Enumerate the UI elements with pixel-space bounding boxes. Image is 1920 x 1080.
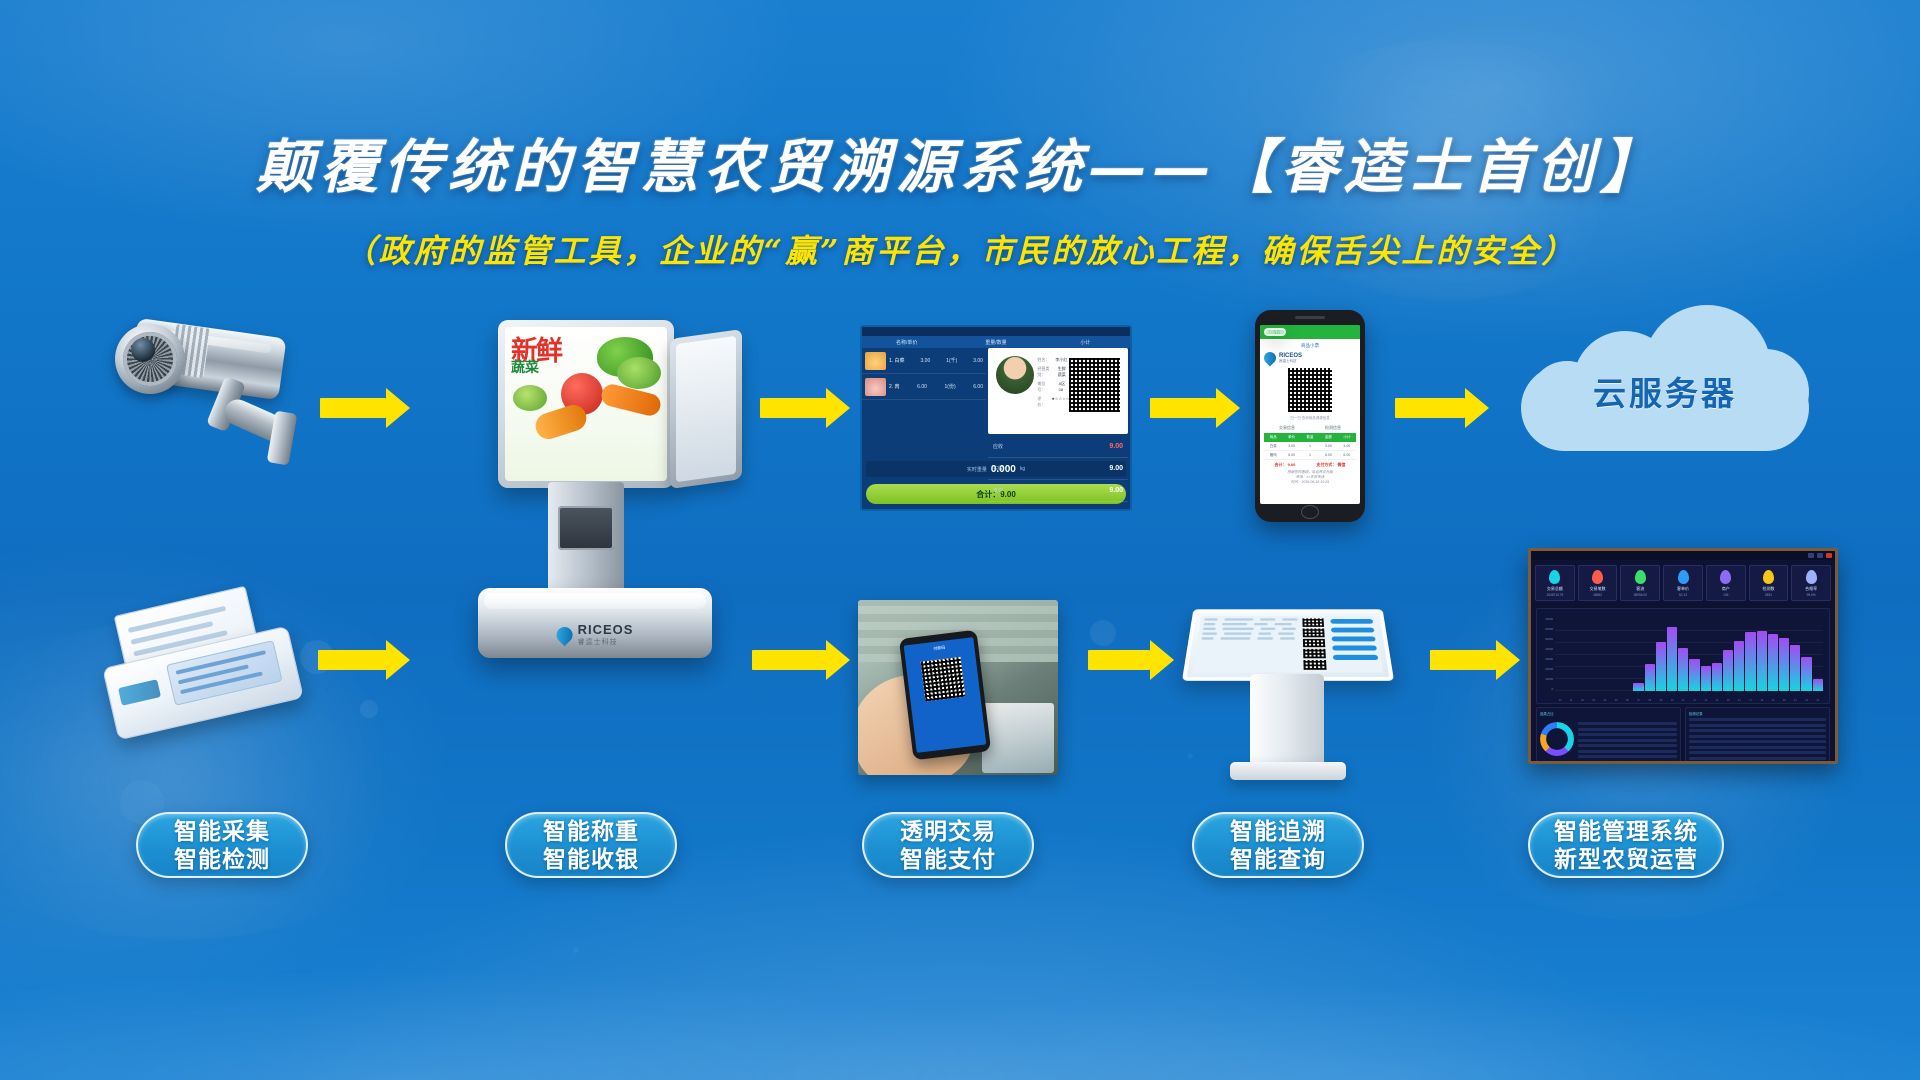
cloud-server-label: 云服务器 <box>1515 367 1815 415</box>
pos-operator-display <box>670 329 742 489</box>
pill-line-1: 透明交易 <box>900 817 996 845</box>
page-title: 颠覆传统的智慧农贸溯源系统——【睿逵士首创】 <box>0 120 1920 204</box>
kiosk-qr-column <box>1301 616 1331 672</box>
device-query-kiosk <box>1188 600 1398 785</box>
weight-label: 实时重量 <box>967 466 987 473</box>
item-unit-price: 3.00 <box>921 358 931 364</box>
kpi-value: 2538716.75 <box>1537 593 1573 597</box>
cell: 6.00 <box>1338 451 1356 459</box>
brand-name: RICEOS <box>578 622 634 637</box>
phone-content: 商品小票 RICEOS 睿逵士科技 扫一扫 查询商品溯源信息 交易信息 检测信息 <box>1260 339 1360 489</box>
traceability-qr-code[interactable] <box>1288 368 1332 412</box>
summary-label: 应收 <box>993 443 1003 450</box>
pos-customer-display: 新鲜蔬菜 <box>498 320 674 488</box>
summary-value: 0.00 <box>1109 510 1123 512</box>
kpi-icon <box>1549 570 1560 584</box>
dashboard-titlebar <box>1531 551 1835 560</box>
chart-x-tick: 21 <box>1790 699 1800 702</box>
wechat-capsule-button[interactable] <box>1264 328 1286 336</box>
kpi-card[interactable]: 检测数2891 <box>1749 565 1789 601</box>
chart-x-tick: 09 <box>1656 699 1666 702</box>
qr-code-cell[interactable] <box>1303 649 1326 658</box>
chart-x-tick: 15 <box>1723 699 1733 702</box>
chart-y-tick: 50000 <box>1539 637 1553 641</box>
vendor-avatar <box>996 356 1034 394</box>
brand-subname: 睿逵士科技 <box>1279 359 1302 364</box>
kpi-value: 38956.00 <box>1622 593 1658 597</box>
kiosk-vendor-list[interactable] <box>1193 616 1303 672</box>
device-food-safety-detector <box>108 600 308 730</box>
kpi-label: 合格率 <box>1793 586 1829 592</box>
cell: 3.00 <box>1338 442 1356 450</box>
pill-line-2: 智能查询 <box>1230 845 1326 873</box>
checkout-titlebar <box>862 327 1130 336</box>
kpi-value: 99.6% <box>1793 593 1829 597</box>
summary-row: 实收 9.00 <box>988 458 1128 480</box>
phone-total: 合计： 9.00 <box>1274 462 1295 468</box>
footer-line: 时间：2019-06-18 10:26 <box>1264 480 1356 485</box>
chart-x-tick: 01 <box>1566 699 1576 702</box>
chart-x-axis: 0001020304050607080910111213141516171819… <box>1555 699 1823 702</box>
kpi-value: 2891 <box>1751 593 1787 597</box>
brand-logo: RICEOS 睿逵士科技 <box>557 622 634 647</box>
cell: 6.00 <box>1319 451 1337 459</box>
phone-table-header: 商品 单价 数量 金额 小计 <box>1264 433 1356 442</box>
pill-line-2: 智能检测 <box>174 845 270 873</box>
chart-y-tick: 20000 <box>1539 667 1553 671</box>
cell: 3.00 <box>1319 442 1337 450</box>
item-thumbnail <box>865 352 886 370</box>
item-qty: 1(份) <box>945 383 956 390</box>
chart-x-tick: 00 <box>1555 699 1565 702</box>
summary-label: 实收 <box>993 465 1003 472</box>
phone-total-row: 合计： 9.00 支付方式： 微信 <box>1264 460 1356 470</box>
chart-x-tick: 08 <box>1645 699 1655 702</box>
checkout-item-row[interactable]: 2. 肉 6.00 1(份) 6.00 <box>862 374 986 400</box>
device-mobile-phone: 溯源小票 商品小票 RICEOS 睿逵士科技 扫一扫 查询商品溯源信息 <box>1255 310 1365 522</box>
chart-bar <box>1645 664 1655 691</box>
item-name: 1. 白菜 <box>889 357 905 364</box>
kpi-label: 交易笔数 <box>1580 586 1616 592</box>
maximize-icon[interactable] <box>1817 553 1823 558</box>
pill-line-1: 智能追溯 <box>1230 817 1326 845</box>
th-amount: 金额 <box>1319 433 1337 442</box>
kpi-value: 48562 <box>1580 593 1616 597</box>
chart-bars <box>1555 619 1823 691</box>
arrow-detector-to-scale <box>318 640 410 680</box>
brand-name: RICEOS <box>1279 353 1302 359</box>
chart-y-axis: 700006000050000400003000020000100000 <box>1539 617 1553 691</box>
kpi-card[interactable]: 合格率99.6% <box>1791 565 1831 601</box>
kiosk-base <box>1230 762 1346 780</box>
chart-x-tick: 11 <box>1678 699 1688 702</box>
chart-bar <box>1656 642 1666 691</box>
item-qty: 1(千) <box>946 357 957 364</box>
arrow-pay-to-kiosk <box>1088 640 1174 680</box>
chart-x-tick: 17 <box>1745 699 1755 702</box>
phone-tabs[interactable]: 交易信息 检测信息 <box>1264 425 1356 431</box>
chart-x-tick: 05 <box>1611 699 1621 702</box>
kpi-icon <box>1635 570 1646 584</box>
kpi-card[interactable]: 交易总额2538716.75 <box>1535 565 1575 601</box>
checkout-right-pane: 姓名：李小红 经营类别：生鲜蔬菜 摊位号：A区08 评价：★☆☆☆☆ 应收 9.… <box>988 348 1128 507</box>
qr-code-cell[interactable] <box>1302 618 1324 626</box>
wechat-navbar: 溯源小票 <box>1260 325 1360 339</box>
donut-legend-table <box>1578 718 1677 764</box>
kpi-label: 检测数 <box>1751 586 1787 592</box>
kiosk-screen-content <box>1193 616 1384 672</box>
dashboard-donut-card: 品类占比 <box>1536 707 1681 764</box>
summary-label: 支付 <box>993 487 1003 494</box>
chart-bar <box>1633 683 1643 691</box>
arrow-camera-to-pos <box>320 388 410 428</box>
kiosk-pedestal <box>1250 674 1324 766</box>
checkout-summary: 应收 9.00 实收 9.00 支付 9.00 找零 0.00 <box>988 436 1128 507</box>
item-name: 2. 肉 <box>889 383 900 390</box>
th-goods: 商品 <box>1264 433 1282 442</box>
chart-x-tick: 16 <box>1734 699 1744 702</box>
cloud-server: 云服务器 <box>1515 305 1815 465</box>
chart-x-tick: 23 <box>1813 699 1823 702</box>
chart-x-tick: 12 <box>1689 699 1699 702</box>
vendor-field-label: 摊位号： <box>1037 381 1052 393</box>
vendor-field-value: 生鲜蔬菜 <box>1058 366 1070 378</box>
cell: 1 <box>1301 442 1319 450</box>
chart-bar <box>1813 679 1823 691</box>
kpi-value: 136 <box>1708 593 1744 597</box>
pill-line-1: 智能管理系统 <box>1554 817 1698 845</box>
dashboard-bar-chart: 700006000050000400003000020000100000 000… <box>1536 608 1830 704</box>
chart-bar <box>1701 666 1711 691</box>
chart-bar <box>1678 648 1688 691</box>
donut-card-title: 品类占比 <box>1540 711 1677 716</box>
summary-row: 应收 9.00 <box>988 436 1128 458</box>
pill-line-2: 新型农贸运营 <box>1554 845 1698 873</box>
arrow-scale-to-pay <box>752 640 850 680</box>
phone-table-row: 白菜 3.00 1 3.00 3.00 <box>1264 442 1356 451</box>
tab-transaction-info[interactable]: 交易信息 <box>1279 425 1295 431</box>
scanning-phone: 付款码 <box>899 630 991 761</box>
qr-caption: 扫一扫 查询商品溯源信息 <box>1264 416 1356 421</box>
kpi-card[interactable]: 商户136 <box>1706 565 1746 601</box>
vendor-field-label: 经营类别： <box>1037 366 1051 378</box>
chart-y-tick: 70000 <box>1539 617 1553 621</box>
chart-x-tick: 02 <box>1577 699 1587 702</box>
summary-label: 找零 <box>993 510 1003 512</box>
chart-y-tick: 10000 <box>1539 677 1553 681</box>
kpi-icon <box>1678 570 1689 584</box>
chart-x-tick: 19 <box>1768 699 1778 702</box>
chart-bar <box>1667 627 1677 691</box>
vendor-field-value: 李小红 <box>1055 357 1067 363</box>
inspection-table <box>1689 718 1826 764</box>
screen-pos-checkout: 名称/单价 重量/数量 小计 1. 白菜 3.00 1(千) 3.00 2. 肉… <box>860 325 1132 511</box>
chart-bar <box>1689 659 1699 691</box>
chart-bar <box>1790 645 1800 691</box>
kiosk-touchscreen[interactable] <box>1182 609 1394 681</box>
brand-mark-icon <box>553 623 576 646</box>
cell: 白菜 <box>1264 442 1282 450</box>
chart-x-tick: 06 <box>1622 699 1632 702</box>
label-pill-trace[interactable]: 智能追溯 智能查询 <box>1192 812 1364 878</box>
traceability-qr-code[interactable] <box>1069 358 1120 412</box>
label-pill-trade[interactable]: 透明交易 智能支付 <box>862 812 1034 878</box>
dashboard-lower-row: 品类占比 检测记录 <box>1536 707 1830 764</box>
checkout-window: 名称/单价 重量/数量 小计 1. 白菜 3.00 1(千) 3.00 2. 肉… <box>860 325 1132 511</box>
label-pill-collect[interactable]: 智能采集 智能检测 <box>136 812 308 878</box>
kpi-label: 商户 <box>1708 586 1744 592</box>
pos-receipt-printer <box>558 506 614 550</box>
chart-bar <box>1757 631 1767 691</box>
chart-bar <box>1768 634 1778 691</box>
cell: 1 <box>1301 451 1319 459</box>
cell: 6.00 <box>1282 451 1300 459</box>
pill-line-1: 智能称重 <box>543 817 639 845</box>
minimize-icon[interactable] <box>1808 553 1814 558</box>
kpi-value: 52.13 <box>1665 593 1701 597</box>
chart-bar <box>1712 663 1722 691</box>
vendor-field-value: A区08 <box>1059 381 1070 393</box>
dashboard-inspection-card: 检测记录 <box>1685 707 1830 764</box>
kpi-card[interactable]: 客单价52.13 <box>1663 565 1703 601</box>
donut-chart <box>1540 722 1574 756</box>
detector-brand-logo-icon <box>118 679 161 706</box>
phone-screen: 溯源小票 商品小票 RICEOS 睿逵士科技 扫一扫 查询商品溯源信息 <box>1260 325 1360 504</box>
summary-value: 9.00 <box>1109 443 1123 450</box>
chart-y-tick: 60000 <box>1539 627 1553 631</box>
col-name-price: 名称/单价 <box>862 339 951 346</box>
inspection-card-title: 检测记录 <box>1689 711 1826 716</box>
pos-display-ad: 新鲜蔬菜 <box>505 327 667 481</box>
summary-row: 支付 9.00 <box>988 480 1128 502</box>
chart-bar <box>1779 638 1789 691</box>
kpi-icon <box>1763 570 1774 584</box>
cell: 3.00 <box>1282 442 1300 450</box>
chart-bar <box>1723 650 1733 691</box>
kiosk-progress-column <box>1328 616 1384 672</box>
vendor-field-label: 评价： <box>1037 396 1045 408</box>
page-subtitle: （政府的监管工具，企业的“赢”商平台，市民的放心工程，确保舌尖上的安全） <box>0 226 1920 272</box>
brand-mark-icon <box>1262 350 1279 367</box>
phone-body: 溯源小票 商品小票 RICEOS 睿逵士科技 扫一扫 查询商品溯源信息 <box>1255 310 1365 522</box>
brand-subname: 睿逵士科技 <box>578 637 634 647</box>
pos-weighing-pan: RICEOS 睿逵士科技 <box>478 588 712 658</box>
chart-x-tick: 07 <box>1633 699 1643 702</box>
col-subtotal: 小计 <box>1041 339 1130 346</box>
device-management-dashboard: 交易总额2538716.75 交易笔数48562 客流38956.00 客单价5… <box>1528 548 1838 764</box>
summary-row: 找零 0.00 <box>988 502 1128 511</box>
scene-mobile-payment: 付款码 <box>858 600 1058 775</box>
dashboard-kpi-row: 交易总额2538716.75 交易笔数48562 客流38956.00 客单价5… <box>1531 560 1835 606</box>
chart-y-tick: 30000 <box>1539 657 1553 661</box>
payment-qr-code[interactable] <box>921 657 966 702</box>
checkout-table-header: 名称/单价 重量/数量 小计 <box>862 336 1130 348</box>
phone-footer: 感谢您的惠顾，欢迎再次光临 市场：××农贸市场 时间：2019-06-18 10… <box>1264 470 1356 485</box>
arrow-phone-to-cloud <box>1395 388 1490 428</box>
scan-pay-title: 付款码 <box>904 641 974 655</box>
cell: 猪肉 <box>1264 451 1282 459</box>
th-subtotal: 小计 <box>1338 433 1356 442</box>
kpi-card[interactable]: 交易笔数48562 <box>1578 565 1618 601</box>
kpi-label: 客单价 <box>1665 586 1701 592</box>
chart-x-tick: 13 <box>1701 699 1711 702</box>
kpi-icon <box>1592 570 1603 584</box>
chart-x-tick: 14 <box>1712 699 1722 702</box>
chart-y-tick: 40000 <box>1539 647 1553 651</box>
vendor-field-label: 姓名： <box>1037 357 1049 363</box>
dashboard-window: 交易总额2538716.75 交易笔数48562 客流38956.00 客单价5… <box>1528 548 1838 764</box>
pill-line-2: 智能支付 <box>900 845 996 873</box>
arrow-kiosk-to-dashboard <box>1430 640 1520 680</box>
chart-x-tick: 03 <box>1589 699 1599 702</box>
chart-x-tick: 22 <box>1801 699 1811 702</box>
qr-code-cell[interactable] <box>1303 628 1325 637</box>
label-pill-weigh[interactable]: 智能称重 智能收银 <box>505 812 677 878</box>
chart-x-tick: 04 <box>1600 699 1610 702</box>
chart-bar <box>1801 657 1811 691</box>
kpi-label: 客流 <box>1622 586 1658 592</box>
kpi-card[interactable]: 客流38956.00 <box>1620 565 1660 601</box>
pill-line-1: 智能采集 <box>174 817 270 845</box>
item-subtotal: 6.00 <box>973 384 983 390</box>
chart-bar <box>1734 641 1744 691</box>
th-price: 单价 <box>1282 433 1300 442</box>
arrow-checkout-to-phone <box>1150 388 1240 428</box>
vendor-card: 姓名：李小红 经营类别：生鲜蔬菜 摊位号：A区08 评价：★☆☆☆☆ <box>988 348 1128 434</box>
kpi-icon <box>1806 570 1817 584</box>
ad-tag-text: 新鲜蔬菜 <box>511 341 561 375</box>
label-pill-manage[interactable]: 智能管理系统 新型农贸运营 <box>1528 812 1724 878</box>
detector-display <box>166 640 283 706</box>
device-pos-scale: 新鲜蔬菜 RICEOS 睿逵士科技 <box>478 320 718 665</box>
chart-x-tick: 10 <box>1667 699 1677 702</box>
close-icon[interactable] <box>1826 553 1832 558</box>
goods-on-counter <box>982 703 1054 773</box>
qr-code-cell[interactable] <box>1303 639 1325 648</box>
summary-value: 9.00 <box>1109 487 1123 494</box>
vendor-rating-stars: ★☆☆☆☆ <box>1051 396 1069 408</box>
checkout-item-row[interactable]: 1. 白菜 3.00 1(千) 3.00 <box>862 348 986 374</box>
item-subtotal: 3.00 <box>973 358 983 364</box>
item-thumbnail <box>865 378 886 396</box>
phone-table-row: 猪肉 6.00 1 6.00 6.00 <box>1264 451 1356 460</box>
vendor-info: 姓名：李小红 经营类别：生鲜蔬菜 摊位号：A区08 评价：★☆☆☆☆ <box>1035 354 1069 428</box>
chart-bar <box>1745 632 1755 691</box>
arrow-pos-to-checkout <box>760 388 850 428</box>
kpi-label: 交易总额 <box>1537 586 1573 592</box>
summary-value: 9.00 <box>1109 465 1123 472</box>
device-cctv-camera <box>95 320 315 510</box>
chart-x-tick: 20 <box>1779 699 1789 702</box>
kpi-icon <box>1720 570 1731 584</box>
headings-block: 颠覆传统的智慧农贸溯源系统——【睿逵士首创】 （政府的监管工具，企业的“赢”商平… <box>0 120 1920 272</box>
chart-y-tick: 0 <box>1539 687 1553 691</box>
phone-brand-logo: RICEOS 睿逵士科技 <box>1264 352 1356 364</box>
item-unit-price: 6.00 <box>917 384 927 390</box>
tab-inspection-info[interactable]: 检测信息 <box>1325 425 1341 431</box>
qr-code-cell[interactable] <box>1303 660 1326 670</box>
phone-page-title: 商品小票 <box>1264 343 1356 349</box>
chart-x-tick: 18 <box>1757 699 1767 702</box>
scan-pay-screen: 付款码 <box>904 637 987 753</box>
th-qty: 数量 <box>1301 433 1319 442</box>
col-weight-qty: 重量/数量 <box>951 339 1040 346</box>
pill-line-2: 智能收银 <box>543 845 639 873</box>
payment-photo: 付款码 <box>858 600 1058 775</box>
phone-pay-method: 支付方式： 微信 <box>1316 462 1345 468</box>
